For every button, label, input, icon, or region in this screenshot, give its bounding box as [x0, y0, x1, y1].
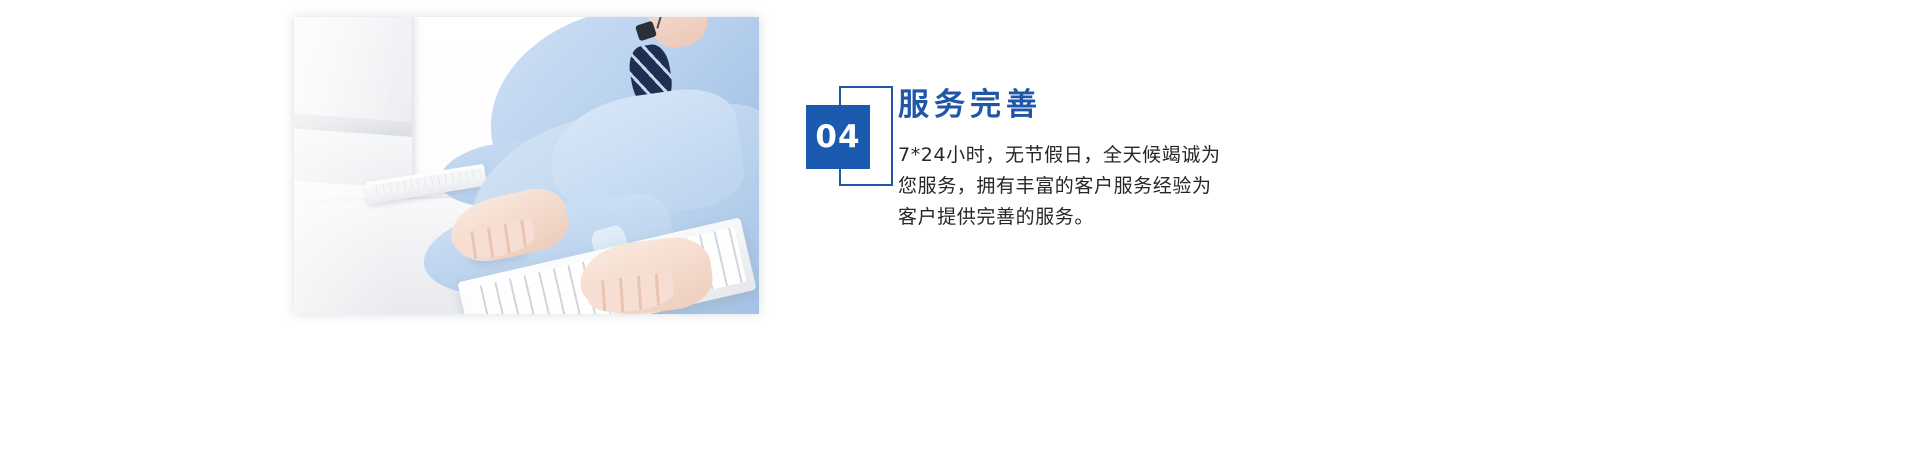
customer-service-photo [294, 17, 759, 314]
badge-number: 04 [806, 105, 870, 169]
description-line-3: 客户提供完善的服务。 [898, 202, 1318, 233]
step-badge: 04 [806, 86, 894, 188]
description-line-2: 您服务，拥有丰富的客户服务经验为 [898, 171, 1318, 202]
description-line-1: 7*24小时，无节假日，全天候竭诚为 [898, 140, 1318, 171]
feature-title: 服务完善 [898, 88, 1042, 122]
feature-description: 7*24小时，无节假日，全天候竭诚为 您服务，拥有丰富的客户服务经验为 客户提供… [898, 140, 1318, 233]
photo-scene [294, 17, 759, 314]
service-feature-section: 04 服务完善 7*24小时，无节假日，全天候竭诚为 您服务，拥有丰富的客户服务… [0, 0, 1920, 452]
